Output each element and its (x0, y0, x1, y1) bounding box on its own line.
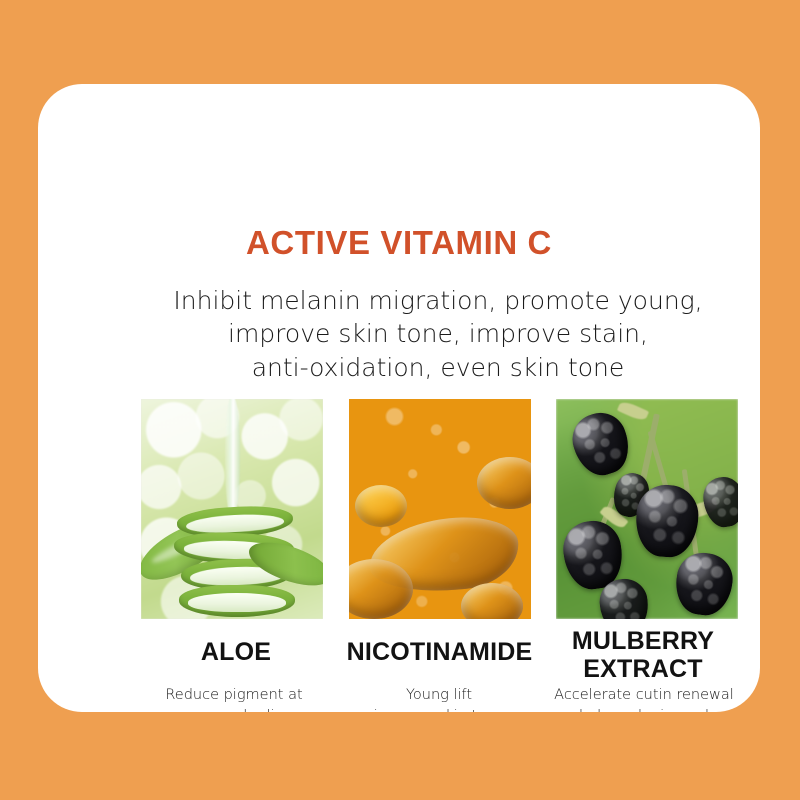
ingredient-image-row (141, 399, 738, 619)
ingredient-description-nicotinamide: Young lift improve skin tone antioxidant (339, 685, 539, 712)
description-line-1: Young lift (339, 685, 539, 706)
ingredient-name-aloe: ALOE (138, 627, 334, 666)
subtitle-line-1: Inhibit melanin migration, promote young… (128, 284, 748, 317)
ingredient-name-line-1: MULBERRY (545, 627, 741, 655)
ingredient-name-line-1: NICOTINAMIDE (342, 638, 538, 666)
content-card: ACTIVE VITAMIN C Inhibit melanin migrati… (38, 84, 760, 712)
ingredient-description-row: Reduce pigment at source and relieve ski… (134, 685, 744, 712)
ingredient-name-nicotinamide: NICOTINAMIDE (342, 627, 538, 666)
subtitle-line-3: anti-oxidation, even skin tone (128, 351, 748, 384)
ingredient-description-mulberry-extract: Accelerate cutin renewal help melanin pe… (544, 685, 744, 712)
description-line-2: help melanin peel (544, 706, 744, 712)
oil-bubble (461, 583, 523, 619)
benefits-subtitle: Inhibit melanin migration, promote young… (128, 284, 748, 384)
description-line-2: improve skin tone (339, 706, 539, 712)
ingredient-name-mulberry-extract: MULBERRY EXTRACT (545, 627, 741, 683)
aloe-flesh (188, 593, 285, 612)
aloe-slice (179, 585, 295, 617)
oil-bubble (355, 485, 407, 527)
description-line-2: source and relieve (134, 706, 334, 712)
page-title: ACTIVE VITAMIN C (38, 225, 760, 261)
aloe-vera-slices-photo (141, 399, 323, 619)
golden-oil-bubbles-photo (349, 399, 531, 619)
aloe-slice-stack (141, 501, 323, 619)
ingredient-name-row: ALOE NICOTINAMIDE MULBERRY EXTRACT (138, 627, 741, 683)
ingredient-name-line-2: EXTRACT (545, 655, 741, 683)
water-pour-stream (225, 399, 240, 517)
aloe-flesh (186, 512, 284, 534)
ingredient-description-aloe: Reduce pigment at source and relieve ski… (134, 685, 334, 712)
description-line-1: Accelerate cutin renewal (544, 685, 744, 706)
mulberry-berries-photo (556, 399, 738, 619)
ingredient-name-line-1: ALOE (138, 638, 334, 666)
description-line-1: Reduce pigment at (134, 685, 334, 706)
product-infographic-poster: ACTIVE VITAMIN C Inhibit melanin migrati… (0, 0, 800, 800)
subtitle-line-2: improve skin tone, improve stain, (128, 317, 748, 350)
